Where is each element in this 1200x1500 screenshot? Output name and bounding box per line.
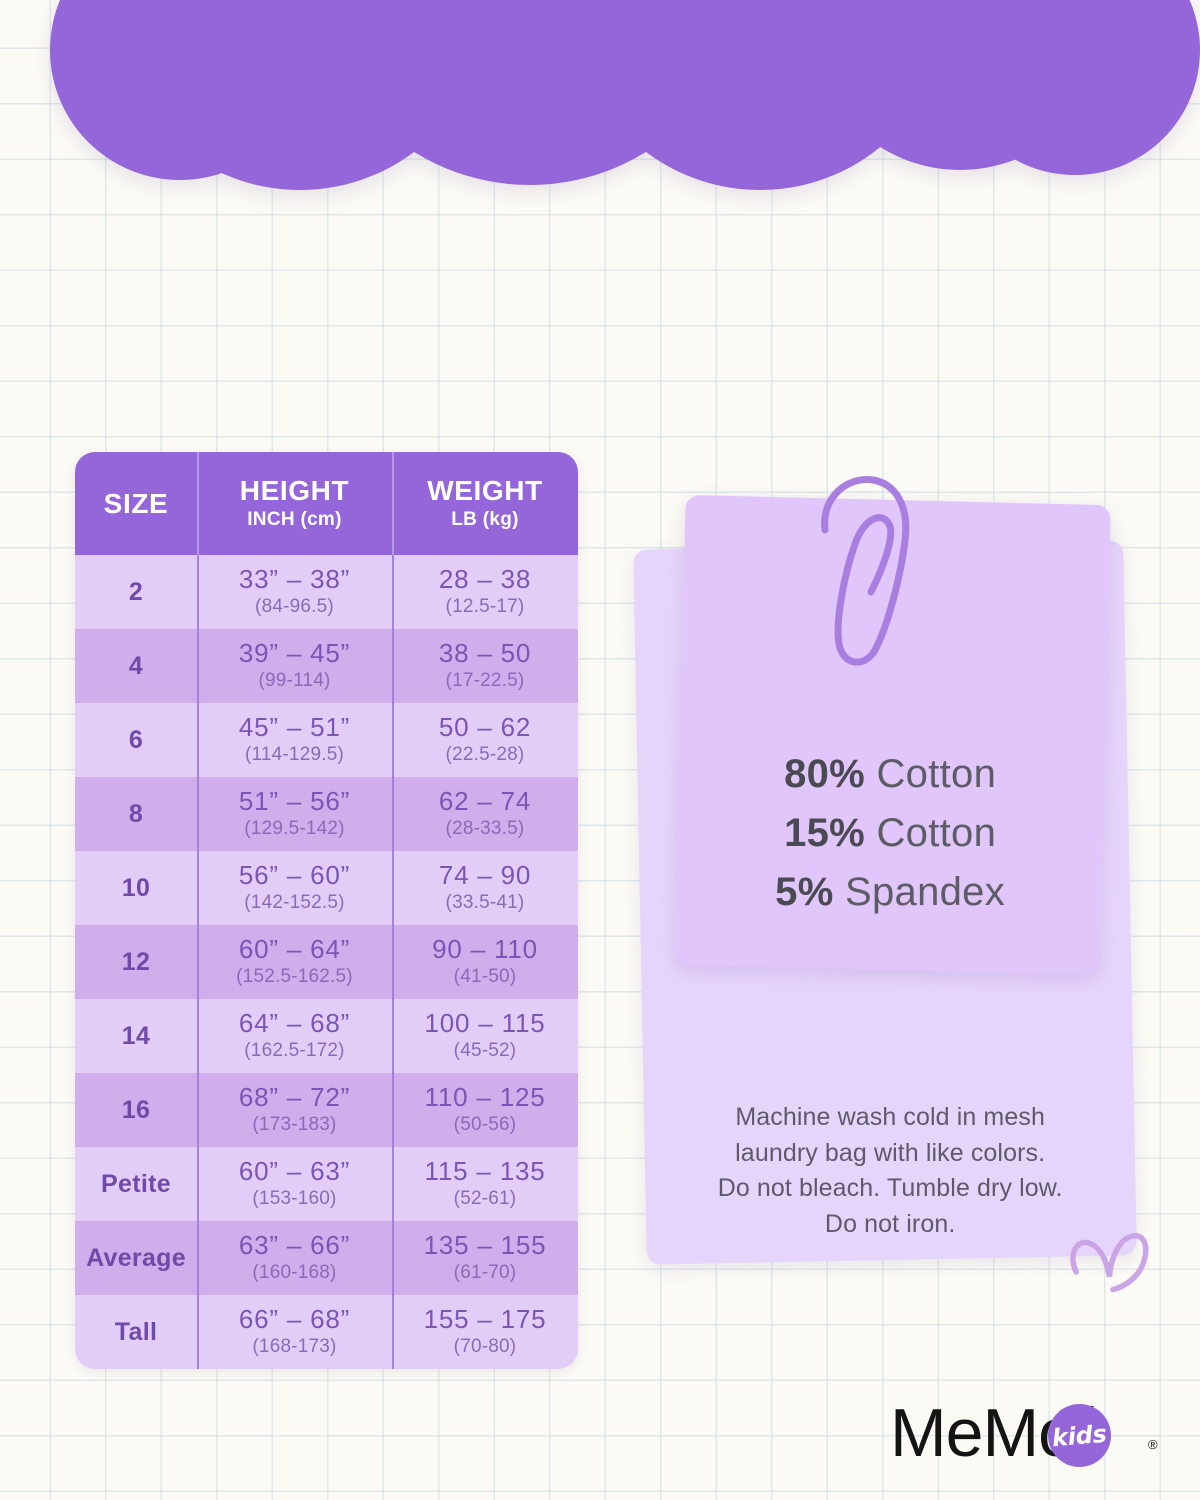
notes-area: Machine wash cold in mesh laundry bag wi… bbox=[620, 470, 1140, 1270]
cell-weight-lb: 135 – 155 bbox=[424, 1232, 547, 1259]
logo-kids-badge: kids bbox=[1048, 1404, 1111, 1467]
cell-size-value: 12 bbox=[122, 948, 150, 977]
cell-weight: 38 – 50(17-22.5) bbox=[392, 629, 578, 703]
cell-size-value: 6 bbox=[129, 726, 143, 755]
cell-size: Average bbox=[75, 1221, 197, 1295]
cell-height-inches: 33” – 38” bbox=[239, 566, 350, 593]
cell-weight-kg: (52-61) bbox=[454, 1188, 517, 1210]
cell-size: Petite bbox=[75, 1147, 197, 1221]
cloud-header-banner: Find your suitable size bbox=[0, 0, 1200, 390]
cell-weight: 115 – 135(52-61) bbox=[392, 1147, 578, 1221]
cell-height: 56” – 60”(142-152.5) bbox=[197, 851, 392, 925]
cell-height-cm: (84-96.5) bbox=[255, 596, 334, 618]
brand-logo: MeMoí kids ® bbox=[890, 1382, 1170, 1467]
cell-size-value: Tall bbox=[115, 1318, 157, 1347]
cell-weight: 74 – 90(33.5-41) bbox=[392, 851, 578, 925]
cell-size: 8 bbox=[75, 777, 197, 851]
cell-height-cm: (173-183) bbox=[252, 1114, 336, 1136]
cell-height-inches: 60” – 64” bbox=[239, 936, 350, 963]
cell-weight: 100 – 115(45-52) bbox=[392, 999, 578, 1073]
cell-height-inches: 60” – 63” bbox=[239, 1158, 350, 1185]
cell-weight: 135 – 155(61-70) bbox=[392, 1221, 578, 1295]
cell-height-inches: 66” – 68” bbox=[239, 1306, 350, 1333]
cell-size-value: Petite bbox=[101, 1170, 171, 1199]
column-header-size: SIZE bbox=[75, 452, 197, 555]
cell-size-value: 16 bbox=[122, 1096, 150, 1125]
cell-weight-kg: (41-50) bbox=[454, 966, 517, 988]
fabric-percent: 80% bbox=[784, 752, 865, 796]
cell-weight-kg: (17-22.5) bbox=[446, 670, 525, 692]
cell-weight-lb: 115 – 135 bbox=[425, 1158, 546, 1185]
cell-size: Tall bbox=[75, 1295, 197, 1369]
cell-height-cm: (142-152.5) bbox=[244, 892, 344, 914]
fabric-material: Spandex bbox=[845, 870, 1005, 914]
cell-height-cm: (160-168) bbox=[252, 1262, 336, 1284]
table-row: Petite60” – 63”(153-160)115 – 135(52-61) bbox=[75, 1147, 578, 1221]
cell-weight-lb: 155 – 175 bbox=[424, 1306, 547, 1333]
table-row: 439” – 45”(99-114)38 – 50(17-22.5) bbox=[75, 629, 578, 703]
table-row: 233” – 38”(84-96.5)28 – 38(12.5-17) bbox=[75, 555, 578, 629]
cell-height-cm: (114-129.5) bbox=[245, 744, 344, 766]
cell-height: 45” – 51”(114-129.5) bbox=[197, 703, 392, 777]
fabric-percent: 5% bbox=[775, 870, 833, 914]
cell-weight-kg: (12.5-17) bbox=[446, 596, 525, 618]
cell-weight-kg: (45-52) bbox=[454, 1040, 517, 1062]
cell-weight-kg: (70-80) bbox=[454, 1336, 517, 1358]
cell-weight-kg: (33.5-41) bbox=[446, 892, 525, 914]
fabric-material: Cotton bbox=[876, 752, 996, 796]
cell-weight: 90 – 110(41-50) bbox=[392, 925, 578, 999]
cell-height-inches: 56” – 60” bbox=[239, 862, 350, 889]
cell-weight-kg: (50-56) bbox=[454, 1114, 517, 1136]
cell-weight: 28 – 38(12.5-17) bbox=[392, 555, 578, 629]
cell-height-inches: 63” – 66” bbox=[239, 1232, 350, 1259]
cell-height-cm: (129.5-142) bbox=[244, 818, 344, 840]
cell-height-cm: (162.5-172) bbox=[244, 1040, 344, 1062]
cell-weight-kg: (28-33.5) bbox=[446, 818, 525, 840]
heart-doodle-icon bbox=[1060, 1217, 1158, 1311]
cell-size-value: Average bbox=[86, 1244, 186, 1273]
cell-height-cm: (153-160) bbox=[252, 1188, 336, 1210]
table-row: 1464” – 68”(162.5-172)100 – 115(45-52) bbox=[75, 999, 578, 1073]
table-row: 1668” – 72”(173-183)110 – 125(50-56) bbox=[75, 1073, 578, 1147]
cell-height-inches: 39” – 45” bbox=[239, 640, 350, 667]
cell-size: 6 bbox=[75, 703, 197, 777]
fabric-line: 5% Spandex bbox=[678, 863, 1103, 922]
logo-kids-label: kids bbox=[1051, 1419, 1108, 1452]
column-header-weight-label: WEIGHT bbox=[427, 476, 543, 505]
cell-weight-lb: 62 – 74 bbox=[439, 788, 531, 815]
cell-weight-lb: 100 – 115 bbox=[425, 1010, 546, 1037]
table-row: 1056” – 60”(142-152.5)74 – 90(33.5-41) bbox=[75, 851, 578, 925]
table-row: Average63” – 66”(160-168)135 – 155(61-70… bbox=[75, 1221, 578, 1295]
column-header-height: HEIGHT INCH (cm) bbox=[197, 452, 392, 555]
column-header-weight-units: LB (kg) bbox=[451, 509, 519, 531]
column-header-size-label: SIZE bbox=[104, 489, 169, 518]
cell-size-value: 8 bbox=[129, 800, 143, 829]
cell-weight-kg: (61-70) bbox=[454, 1262, 517, 1284]
cell-size: 14 bbox=[75, 999, 197, 1073]
cell-height: 60” – 64”(152.5-162.5) bbox=[197, 925, 392, 999]
cell-weight: 110 – 125(50-56) bbox=[392, 1073, 578, 1147]
table-body: 233” – 38”(84-96.5)28 – 38(12.5-17)439” … bbox=[75, 555, 578, 1369]
cell-weight-kg: (22.5-28) bbox=[446, 744, 525, 766]
column-header-height-label: HEIGHT bbox=[240, 476, 349, 505]
table-row: 645” – 51”(114-129.5)50 – 62(22.5-28) bbox=[75, 703, 578, 777]
cloud-shape bbox=[50, 0, 1200, 190]
cell-weight: 50 – 62(22.5-28) bbox=[392, 703, 578, 777]
cell-height-cm: (168-173) bbox=[252, 1336, 336, 1358]
table-row: Tall66” – 68”(168-173)155 – 175(70-80) bbox=[75, 1295, 578, 1369]
column-header-weight: WEIGHT LB (kg) bbox=[392, 452, 578, 555]
fabric-material: Cotton bbox=[876, 811, 996, 855]
cell-height: 63” – 66”(160-168) bbox=[197, 1221, 392, 1295]
infographic-page: Find your suitable size SIZE HEIGHT INCH… bbox=[0, 0, 1200, 1500]
cell-height: 64” – 68”(162.5-172) bbox=[197, 999, 392, 1073]
table-row: 1260” – 64”(152.5-162.5)90 – 110(41-50) bbox=[75, 925, 578, 999]
cell-weight-lb: 110 – 125 bbox=[425, 1084, 546, 1111]
cell-height-inches: 68” – 72” bbox=[239, 1084, 350, 1111]
cell-size-value: 2 bbox=[129, 578, 143, 607]
cell-weight: 155 – 175(70-80) bbox=[392, 1295, 578, 1369]
paperclip-icon bbox=[805, 468, 935, 678]
cell-height: 60” – 63”(153-160) bbox=[197, 1147, 392, 1221]
table-row: 851” – 56”(129.5-142)62 – 74(28-33.5) bbox=[75, 777, 578, 851]
cell-weight: 62 – 74(28-33.5) bbox=[392, 777, 578, 851]
column-header-height-units: INCH (cm) bbox=[247, 509, 342, 531]
fabric-percent: 15% bbox=[784, 811, 865, 855]
cell-height: 39” – 45”(99-114) bbox=[197, 629, 392, 703]
fabric-line: 15% Cotton bbox=[678, 804, 1103, 863]
registered-trademark-symbol: ® bbox=[1148, 1437, 1158, 1452]
cell-height-inches: 45” – 51” bbox=[239, 714, 350, 741]
cell-height-inches: 51” – 56” bbox=[239, 788, 350, 815]
cell-size-value: 4 bbox=[129, 652, 143, 681]
cell-size: 12 bbox=[75, 925, 197, 999]
size-chart-table: SIZE HEIGHT INCH (cm) WEIGHT LB (kg) 233… bbox=[75, 452, 578, 1369]
fabric-composition-list: 80% Cotton15% Cotton5% Spandex bbox=[678, 745, 1103, 921]
cell-height: 33” – 38”(84-96.5) bbox=[197, 555, 392, 629]
cell-weight-lb: 28 – 38 bbox=[439, 566, 531, 593]
table-header-row: SIZE HEIGHT INCH (cm) WEIGHT LB (kg) bbox=[75, 452, 578, 555]
cell-height-inches: 64” – 68” bbox=[239, 1010, 350, 1037]
cell-size: 10 bbox=[75, 851, 197, 925]
cell-size: 16 bbox=[75, 1073, 197, 1147]
cell-height-cm: (152.5-162.5) bbox=[236, 966, 353, 988]
cell-weight-lb: 74 – 90 bbox=[439, 862, 531, 889]
cell-size-value: 14 bbox=[122, 1022, 150, 1051]
cell-size: 4 bbox=[75, 629, 197, 703]
cell-size-value: 10 bbox=[122, 874, 150, 903]
cell-height: 66” – 68”(168-173) bbox=[197, 1295, 392, 1369]
fabric-line: 80% Cotton bbox=[678, 745, 1103, 804]
cell-size: 2 bbox=[75, 555, 197, 629]
cell-weight-lb: 90 – 110 bbox=[432, 936, 538, 963]
cell-weight-lb: 50 – 62 bbox=[439, 714, 531, 741]
cell-height: 68” – 72”(173-183) bbox=[197, 1073, 392, 1147]
cell-weight-lb: 38 – 50 bbox=[439, 640, 531, 667]
cell-height-cm: (99-114) bbox=[258, 670, 330, 692]
cell-height: 51” – 56”(129.5-142) bbox=[197, 777, 392, 851]
